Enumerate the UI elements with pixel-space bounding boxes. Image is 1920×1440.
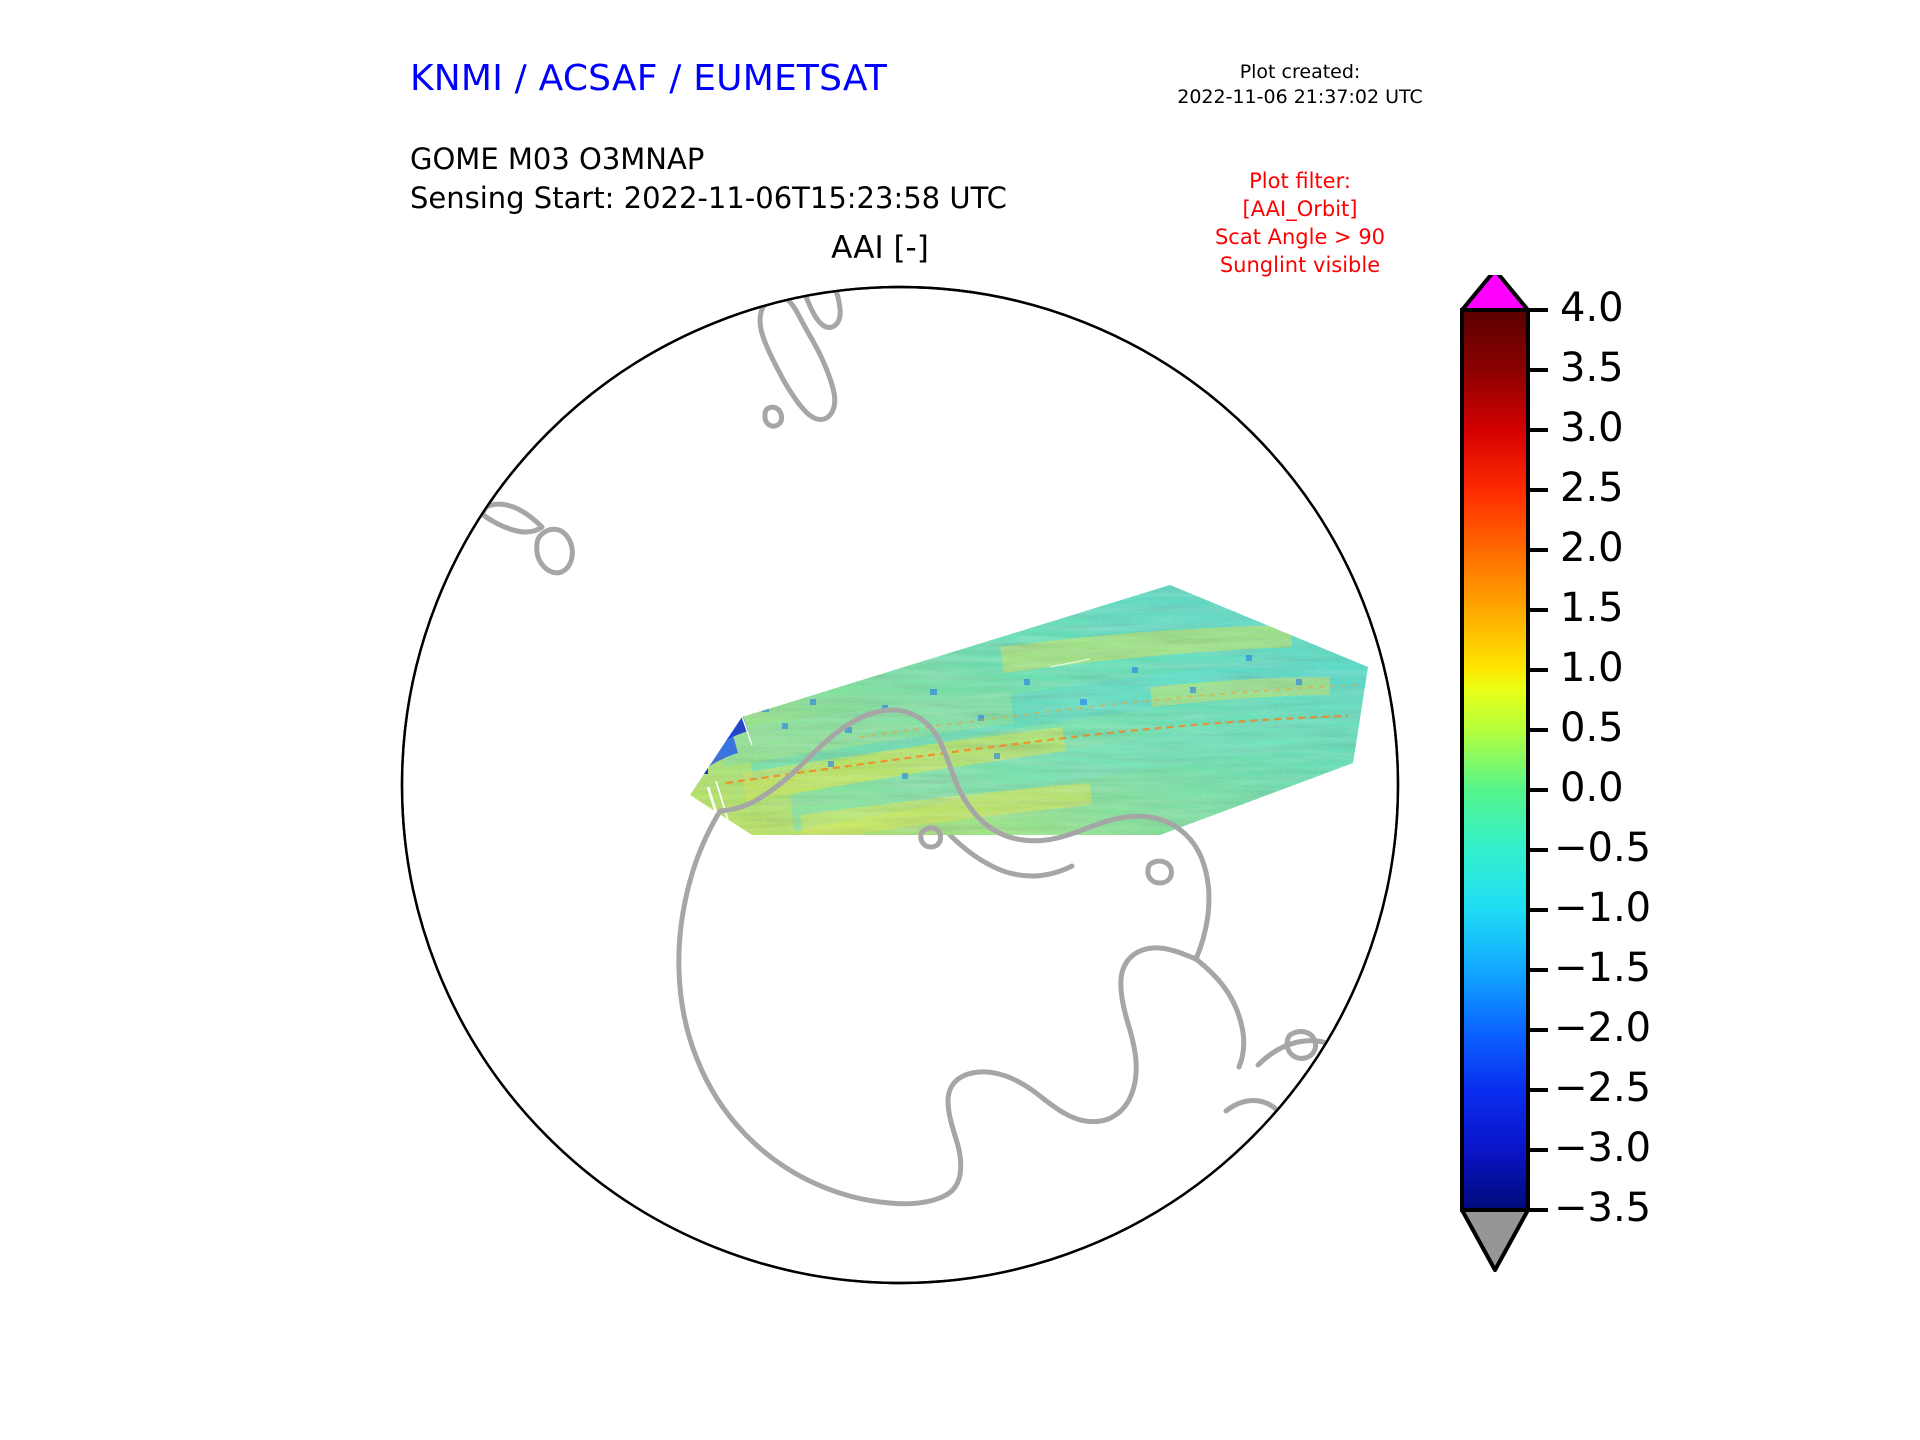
provider-title: KNMI / ACSAF / EUMETSAT	[410, 58, 887, 99]
colorbar-under-arrow	[1462, 1210, 1528, 1270]
colorbar-tick-label: −1.0	[1554, 885, 1651, 931]
colorbar-tick-label: −3.0	[1554, 1125, 1651, 1171]
colorbar-tick-label: 2.5	[1560, 465, 1624, 511]
colorbar-tick-label: 0.5	[1560, 705, 1624, 751]
colorbar-tick-label: 3.5	[1560, 345, 1624, 391]
colorbar-tick-label: −2.0	[1554, 1005, 1651, 1051]
colorbar-tick-label: 1.5	[1560, 585, 1624, 631]
colorbar-tick-label: −2.5	[1554, 1065, 1651, 1111]
colorbar-tick-label: −3.5	[1554, 1185, 1651, 1231]
colorbar-tick-label: 1.0	[1560, 645, 1624, 691]
colorbar: 4.0 3.5 3.0 2.5 2.0 1.5 1.0 0.5 0.0 −0.5…	[1440, 275, 1690, 1295]
colorbar-ticks	[1528, 310, 1548, 1210]
page-title: AAI [-]	[600, 230, 1160, 266]
polar-map-svg	[390, 275, 1410, 1295]
colorbar-tick-label: 0.0	[1560, 765, 1624, 811]
colorbar-tick-label: 2.0	[1560, 525, 1624, 571]
plot-filter-block: Plot filter: [AAI_Orbit] Scat Angle > 90…	[1150, 168, 1450, 280]
plot-filter-title: Plot filter:	[1150, 168, 1450, 196]
plot-page: KNMI / ACSAF / EUMETSAT Plot created: 20…	[0, 0, 1920, 1440]
plot-created-block: Plot created: 2022-11-06 21:37:02 UTC	[1155, 60, 1445, 111]
plot-filter-line-1: [AAI_Orbit]	[1150, 196, 1450, 224]
colorbar-svg: 4.0 3.5 3.0 2.5 2.0 1.5 1.0 0.5 0.0 −0.5…	[1440, 275, 1690, 1295]
plot-created-label: Plot created:	[1155, 60, 1445, 85]
sensing-start: Sensing Start: 2022-11-06T15:23:58 UTC	[410, 179, 1007, 218]
dataset-block: GOME M03 O3MNAP Sensing Start: 2022-11-0…	[410, 140, 1007, 219]
colorbar-tick-label: −1.5	[1554, 945, 1651, 991]
colorbar-tick-label: −0.5	[1554, 825, 1651, 871]
plot-filter-line-2: Scat Angle > 90	[1150, 224, 1450, 252]
plot-created-time: 2022-11-06 21:37:02 UTC	[1155, 85, 1445, 110]
colorbar-tick-label: 4.0	[1560, 285, 1624, 331]
colorbar-tick-label: 3.0	[1560, 405, 1624, 451]
colorbar-tick-labels: 4.0 3.5 3.0 2.5 2.0 1.5 1.0 0.5 0.0 −0.5…	[1554, 285, 1651, 1231]
map-plot-area	[390, 275, 1410, 1295]
dataset-name: GOME M03 O3MNAP	[410, 140, 1007, 179]
colorbar-over-arrow	[1462, 275, 1528, 310]
colorbar-gradient	[1462, 310, 1528, 1210]
